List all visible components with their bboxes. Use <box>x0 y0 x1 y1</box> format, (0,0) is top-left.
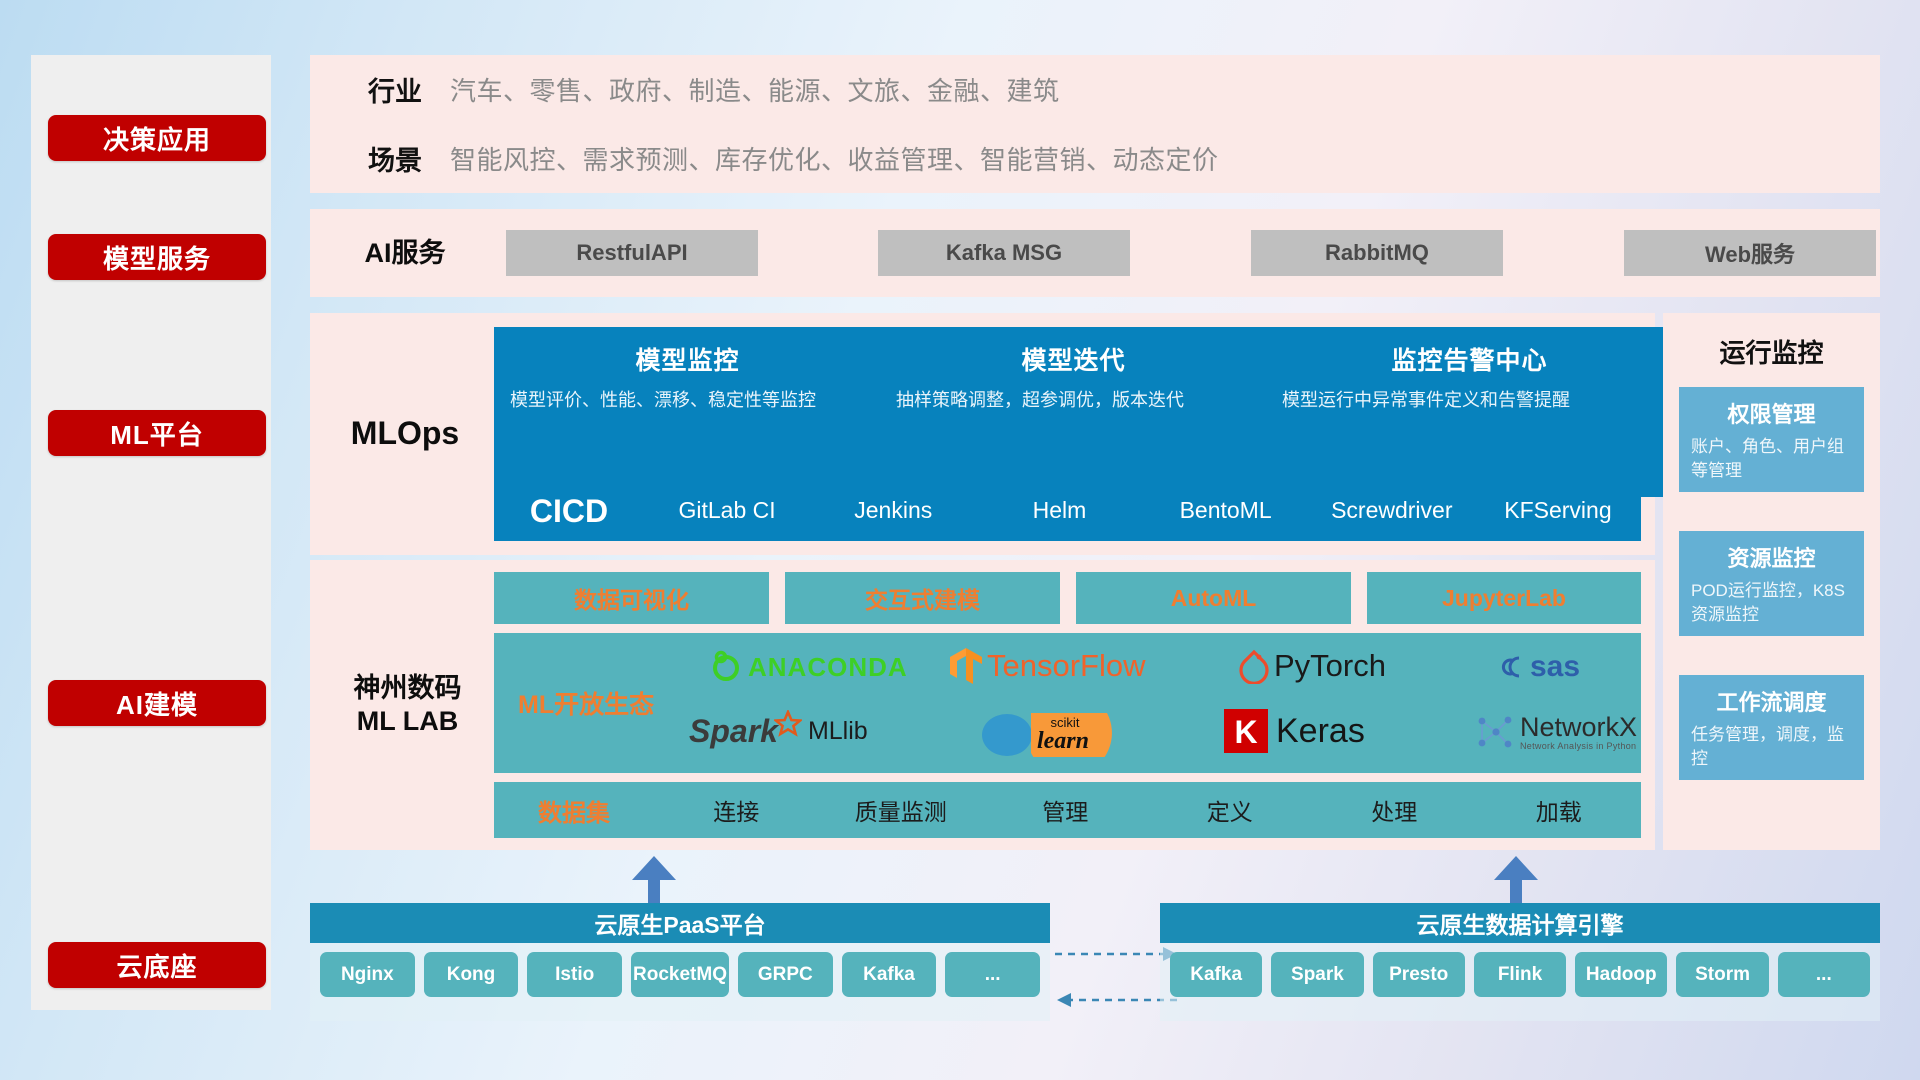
cloud-chip-more[interactable]: ... <box>945 952 1040 997</box>
arrow-up-paas-icon <box>632 856 676 880</box>
chip-label: Web服务 <box>1705 237 1795 269</box>
application-band: 行业 汽车、零售、政府、制造、能源、文旅、金融、建筑 场景 智能风控、需求预测、… <box>310 55 1880 193</box>
service-chip-web-service[interactable]: Web服务 <box>1624 230 1876 276</box>
pytorch-logo: PyTorch <box>1239 643 1386 689</box>
chip-label: Kafka MSG <box>946 240 1062 266</box>
engine-chip-hadoop[interactable]: Hadoop <box>1575 952 1667 997</box>
networkx-icon <box>1474 711 1516 753</box>
cloud-chip-kafka[interactable]: Kafka <box>842 952 937 997</box>
service-chip-kafka-msg[interactable]: Kafka MSG <box>878 230 1130 276</box>
tensorflow-logo-text: TensorFlow <box>987 648 1146 684</box>
keras-logo-text: Keras <box>1276 712 1365 751</box>
cloud-paas-block: 云原生PaaS平台 Nginx Kong Istio RocketMQ GRPC… <box>310 903 1050 1021</box>
scikit-learn-icon: scikit learn <box>979 707 1139 757</box>
tier-chip-ml-platform[interactable]: ML平台 <box>48 410 266 456</box>
mlops-card-model-iteration[interactable]: 模型迭代 抽样策略调整，超参调优，版本迭代 <box>880 327 1267 497</box>
arrow-up-paas-stem <box>648 879 660 903</box>
scenario-row: 场景 智能风控、需求预测、库存优化、收益管理、智能营销、动态定价 <box>310 124 1880 193</box>
cloud-engine-head: 云原生数据计算引擎 <box>1160 903 1880 943</box>
industry-row: 行业 汽车、零售、政府、制造、能源、文旅、金融、建筑 <box>310 55 1880 124</box>
cicd-item-jenkins[interactable]: Jenkins <box>810 499 976 522</box>
cloud-paas-chip-list: Nginx Kong Istio RocketMQ GRPC Kafka ... <box>310 943 1050 1006</box>
tool-chip-interactive-modeling[interactable]: 交互式建模 <box>785 572 1060 624</box>
tier-chip-decision-app[interactable]: 决策应用 <box>48 115 266 161</box>
networkx-tagline: Network Analysis in Python <box>1520 741 1637 751</box>
keras-icon: K <box>1224 709 1268 753</box>
dataset-item-manage[interactable]: 管理 <box>983 793 1148 827</box>
mlops-label: MLOps <box>320 313 490 555</box>
cloud-chip-kong[interactable]: Kong <box>424 952 519 997</box>
cicd-item-kfserving[interactable]: KFServing <box>1475 499 1641 522</box>
ml-lab-label-line1: 神州数码 <box>354 672 462 705</box>
tier-chip-model-service[interactable]: 模型服务 <box>48 234 266 280</box>
cicd-head-label: CICD <box>494 493 644 530</box>
keras-logo: K Keras <box>1224 705 1365 757</box>
card-title: 工作流调度 <box>1691 685 1852 717</box>
engine-chip-flink[interactable]: Flink <box>1474 952 1566 997</box>
cicd-item-screwdriver[interactable]: Screwdriver <box>1309 499 1475 522</box>
ml-lab-label-line2: ML LAB <box>357 705 459 738</box>
cicd-item-helm[interactable]: Helm <box>976 499 1142 522</box>
monitoring-card-resource[interactable]: 资源监控 POD运行监控，K8S资源监控 <box>1679 531 1864 636</box>
dataset-item-load[interactable]: 加载 <box>1477 793 1642 827</box>
spark-logo-text: Spark <box>689 713 778 750</box>
card-desc: 模型运行中异常事件定义和告警提醒 <box>1282 387 1657 413</box>
arrow-up-engine-icon <box>1494 856 1538 880</box>
cloud-chip-istio[interactable]: Istio <box>527 952 622 997</box>
card-title: 模型迭代 <box>896 341 1251 377</box>
arrow-up-engine-stem <box>1510 879 1522 903</box>
card-title: 权限管理 <box>1691 397 1852 429</box>
card-desc: 任务管理，调度，监控 <box>1691 723 1852 771</box>
service-chip-restfulapi[interactable]: RestfulAPI <box>506 230 758 276</box>
chip-label: 交互式建模 <box>865 581 980 615</box>
chip-label: RabbitMQ <box>1325 240 1429 266</box>
dataset-item-process[interactable]: 处理 <box>1312 793 1477 827</box>
chip-label: AutoML <box>1171 585 1257 612</box>
cicd-bar: CICD GitLab CI Jenkins Helm BentoML Scre… <box>494 481 1641 541</box>
monitoring-card-workflow[interactable]: 工作流调度 任务管理，调度，监控 <box>1679 675 1864 780</box>
card-title: 监控告警中心 <box>1282 341 1657 377</box>
mllib-logo-text: MLlib <box>808 717 868 746</box>
scikit-learn-logo: scikit learn <box>979 707 1139 757</box>
service-chip-rabbitmq[interactable]: RabbitMQ <box>1251 230 1503 276</box>
networkx-logo-text: NetworkX <box>1520 714 1637 741</box>
card-title: 模型监控 <box>510 341 865 377</box>
tier-label: 决策应用 <box>103 120 211 157</box>
architecture-diagram: 决策应用 模型服务 ML平台 AI建模 云底座 行业 汽车、零售、政府、制造、能… <box>0 0 1920 1080</box>
chip-label: RestfulAPI <box>576 240 687 266</box>
tier-chip-cloud-base[interactable]: 云底座 <box>48 942 266 988</box>
engine-chip-kafka[interactable]: Kafka <box>1170 952 1262 997</box>
tensorflow-icon <box>949 646 983 686</box>
spark-mllib-logo: Spark MLlib <box>689 705 868 757</box>
cloud-chip-nginx[interactable]: Nginx <box>320 952 415 997</box>
mlops-card-model-monitoring[interactable]: 模型监控 模型评价、性能、漂移、稳定性等监控 <box>494 327 881 497</box>
cicd-item-bentoml[interactable]: BentoML <box>1143 499 1309 522</box>
sas-icon <box>1494 650 1528 684</box>
mlops-card-alert-center[interactable]: 监控告警中心 模型运行中异常事件定义和告警提醒 <box>1266 327 1673 497</box>
pytorch-logo-text: PyTorch <box>1274 648 1386 684</box>
sas-logo: sas <box>1494 645 1580 689</box>
chip-label: JupyterLab <box>1442 585 1566 612</box>
mlops-band: MLOps 模型监控 模型评价、性能、漂移、稳定性等监控 模型迭代 抽样策略调整… <box>310 313 1655 555</box>
industry-value: 汽车、零售、政府、制造、能源、文旅、金融、建筑 <box>450 71 1060 108</box>
ai-service-band: AI服务 RestfulAPI Kafka MSG RabbitMQ Web服务 <box>310 209 1880 297</box>
anaconda-icon <box>709 650 743 684</box>
scenario-key: 场景 <box>340 139 450 178</box>
tool-chip-jupyterlab[interactable]: JupyterLab <box>1367 572 1641 624</box>
modeling-band: 神州数码 ML LAB 数据可视化 交互式建模 AutoML JupyterLa… <box>310 560 1655 850</box>
dataset-item-quality-monitor[interactable]: 质量监测 <box>819 793 984 827</box>
dataset-item-define[interactable]: 定义 <box>1148 793 1313 827</box>
scenario-value: 智能风控、需求预测、库存优化、收益管理、智能营销、动态定价 <box>450 140 1219 177</box>
tier-chip-ai-modeling[interactable]: AI建模 <box>48 680 266 726</box>
tool-chip-data-visualization[interactable]: 数据可视化 <box>494 572 769 624</box>
industry-key: 行业 <box>340 70 450 109</box>
svg-text:learn: learn <box>1037 728 1089 754</box>
engine-chip-storm[interactable]: Storm <box>1676 952 1768 997</box>
cicd-item-gitlab-ci[interactable]: GitLab CI <box>644 499 810 522</box>
card-desc: POD运行监控，K8S资源监控 <box>1691 579 1852 627</box>
dataset-head-label: 数据集 <box>494 793 654 828</box>
tool-chip-automl[interactable]: AutoML <box>1076 572 1351 624</box>
engine-chip-presto[interactable]: Presto <box>1373 952 1465 997</box>
svg-text:K: K <box>1234 714 1257 750</box>
tier-label: ML平台 <box>110 415 204 452</box>
tier-rail <box>31 55 271 1010</box>
ai-service-label: AI服务 <box>330 209 480 297</box>
tier-label: 云底座 <box>116 947 197 984</box>
anaconda-logo: ANACONDA <box>709 645 908 689</box>
ml-ecosystem-band: ML开放生态 ANACONDA TensorFlow <box>494 633 1641 773</box>
card-desc: 模型评价、性能、漂移、稳定性等监控 <box>510 387 865 413</box>
cloud-chip-rocketmq[interactable]: RocketMQ <box>631 952 729 997</box>
engine-chip-spark[interactable]: Spark <box>1271 952 1363 997</box>
cloud-chip-grpc[interactable]: GRPC <box>738 952 833 997</box>
dataset-row: 数据集 连接 质量监测 管理 定义 处理 加载 <box>494 782 1641 838</box>
tier-label: AI建模 <box>116 685 198 722</box>
sas-logo-text: sas <box>1530 650 1580 684</box>
monitoring-column: 运行监控 权限管理 账户、角色、用户组等管理 资源监控 POD运行监控，K8S资… <box>1663 313 1880 850</box>
ml-lab-label: 神州数码 ML LAB <box>320 560 495 850</box>
monitoring-card-permission[interactable]: 权限管理 账户、角色、用户组等管理 <box>1679 387 1864 492</box>
card-desc: 账户、角色、用户组等管理 <box>1691 435 1852 483</box>
engine-chip-more[interactable]: ... <box>1778 952 1870 997</box>
card-desc: 抽样策略调整，超参调优，版本迭代 <box>896 387 1251 413</box>
spark-star-icon <box>774 710 802 738</box>
cloud-engine-block: 云原生数据计算引擎 Kafka Spark Presto Flink Hadoo… <box>1160 903 1880 1021</box>
chip-label: 数据可视化 <box>574 581 689 615</box>
pytorch-icon <box>1239 648 1269 684</box>
cloud-engine-chip-list: Kafka Spark Presto Flink Hadoop Storm ..… <box>1160 943 1880 1006</box>
tier-label: 模型服务 <box>103 239 211 276</box>
networkx-logo: NetworkX Network Analysis in Python <box>1474 707 1637 757</box>
monitoring-column-title: 运行监控 <box>1663 333 1880 370</box>
ml-ecosystem-label: ML开放生态 <box>518 685 654 721</box>
card-title: 资源监控 <box>1691 541 1852 573</box>
anaconda-logo-text: ANACONDA <box>748 652 908 683</box>
dataset-item-connect[interactable]: 连接 <box>654 793 819 827</box>
cloud-paas-head: 云原生PaaS平台 <box>310 903 1050 943</box>
tensorflow-logo: TensorFlow <box>949 643 1146 689</box>
